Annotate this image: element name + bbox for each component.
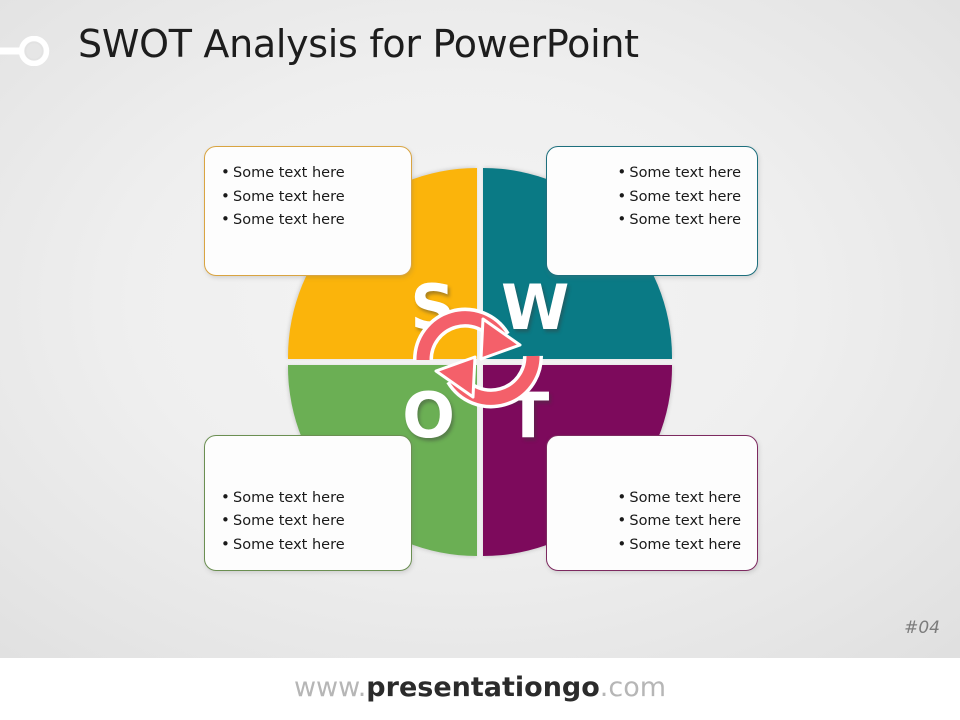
quadrant-letter-t: T [507, 385, 549, 447]
list-item: Some text here [617, 509, 741, 533]
list-item: Some text here [221, 533, 345, 557]
title-bar: SWOT Analysis for PowerPoint [0, 14, 960, 70]
list-item: Some text here [617, 208, 741, 232]
list-item: Some text here [221, 486, 345, 510]
list-item: Some text here [221, 185, 345, 209]
textbox-opportunities[interactable]: Some text here Some text here Some text … [204, 435, 412, 571]
ring-pin-icon [0, 36, 58, 66]
list-item: Some text here [617, 161, 741, 185]
url-brand: presentationgo [366, 672, 600, 703]
list-item: Some text here [221, 509, 345, 533]
footer-url[interactable]: www.presentationgo.com [0, 672, 960, 703]
list-item: Some text here [617, 486, 741, 510]
slide-canvas: SWOT Analysis for PowerPoint S W O T [0, 0, 960, 720]
bullet-list-opportunities: Some text here Some text here Some text … [221, 486, 345, 557]
page-number: #04 [904, 618, 940, 638]
page-title: SWOT Analysis for PowerPoint [78, 22, 639, 66]
textbox-weaknesses[interactable]: Some text here Some text here Some text … [546, 146, 758, 276]
quadrant-letter-o: O [402, 385, 455, 447]
url-prefix: www. [294, 672, 366, 703]
list-item: Some text here [221, 208, 345, 232]
url-suffix: .com [600, 672, 666, 703]
list-item: Some text here [221, 161, 345, 185]
textbox-threats[interactable]: Some text here Some text here Some text … [546, 435, 758, 571]
quadrant-letter-w: W [501, 277, 569, 339]
textbox-strengths[interactable]: Some text here Some text here Some text … [204, 146, 412, 276]
bullet-list-weaknesses: Some text here Some text here Some text … [617, 161, 741, 232]
list-item: Some text here [617, 533, 741, 557]
list-item: Some text here [617, 185, 741, 209]
bullet-list-strengths: Some text here Some text here Some text … [221, 161, 345, 232]
bullet-list-threats: Some text here Some text here Some text … [617, 486, 741, 557]
quadrant-letter-s: S [410, 277, 455, 339]
